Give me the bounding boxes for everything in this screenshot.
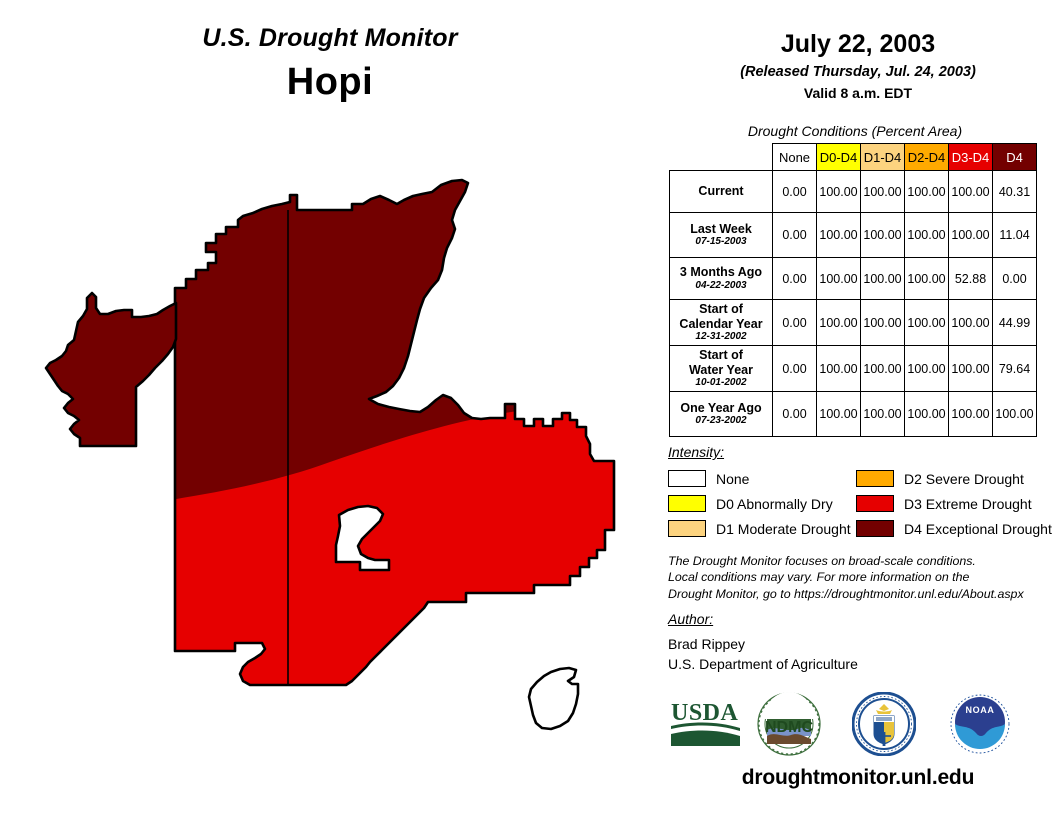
author-heading: Author: <box>668 611 713 627</box>
legend-item-d0: D0 Abnormally Dry <box>668 495 833 512</box>
row-label-name: One Year Ago <box>670 401 772 416</box>
disclaimer: The Drought Monitor focuses on broad-sca… <box>668 553 1052 602</box>
legend-item-d4: D4 Exceptional Drought <box>856 520 1052 537</box>
cell-current-none: 0.00 <box>773 171 817 213</box>
disclaimer-line-3: Drought Monitor, go to https://droughtmo… <box>668 586 1052 602</box>
cell-3mo-d1d4: 100.00 <box>861 258 905 300</box>
legend-item-d3: D3 Extreme Drought <box>856 495 1032 512</box>
table-row: Current 0.00 100.00 100.00 100.00 100.00… <box>670 171 1037 213</box>
svg-text:USDA: USDA <box>671 700 739 726</box>
row-label-name: Start ofWater Year <box>670 348 772 378</box>
row-label-date: 07-15-2003 <box>670 236 772 248</box>
table-corner-cell <box>670 144 773 171</box>
row-label-date: 12-31-2002 <box>670 331 772 343</box>
cell-3mo-d0d4: 100.00 <box>817 258 861 300</box>
svg-text:NDMC: NDMC <box>765 719 813 736</box>
cell-cal-d2d4: 100.00 <box>905 300 949 346</box>
release-date: (Released Thursday, Jul. 24, 2003) <box>660 64 1056 80</box>
cell-1yr-d1d4: 100.00 <box>861 392 905 437</box>
col-header-d4: D4 <box>993 144 1037 171</box>
ndmc-logo[interactable]: NDMC <box>757 692 821 761</box>
table-caption: Drought Conditions (Percent Area) <box>660 123 1050 139</box>
site-url[interactable]: droughtmonitor.unl.edu <box>660 766 1056 790</box>
info-panel: July 22, 2003 (Released Thursday, Jul. 2… <box>660 0 1056 816</box>
legend-swatch-d0-icon <box>668 495 706 512</box>
col-header-d1-d4: D1-D4 <box>861 144 905 171</box>
legend-heading: Intensity: <box>668 444 724 460</box>
row-label-date: 04-22-2003 <box>670 280 772 292</box>
usdc-seal-logo[interactable] <box>852 692 916 761</box>
row-label-start-of-calendar-year: Start ofCalendar Year 12-31-2002 <box>670 300 773 346</box>
map-svg[interactable] <box>0 130 660 750</box>
legend-label-d3: D3 Extreme Drought <box>904 496 1032 512</box>
author-block: Brad Rippey U.S. Department of Agricultu… <box>668 634 858 675</box>
row-label-start-of-water-year: Start ofWater Year 10-01-2002 <box>670 346 773 392</box>
legend-item-none: None <box>668 470 749 487</box>
row-label-last-week: Last Week 07-15-2003 <box>670 213 773 258</box>
cell-current-d0d4: 100.00 <box>817 171 861 213</box>
col-header-d3-d4: D3-D4 <box>949 144 993 171</box>
noaa-logo[interactable]: NOAA <box>948 692 1012 761</box>
legend-label-d2: D2 Severe Drought <box>904 471 1024 487</box>
cell-wat-d3d4: 100.00 <box>949 346 993 392</box>
cell-wat-d4: 79.64 <box>993 346 1037 392</box>
cell-1yr-d0d4: 100.00 <box>817 392 861 437</box>
col-header-d0-d4: D0-D4 <box>817 144 861 171</box>
cell-current-d4: 40.31 <box>993 171 1037 213</box>
legend-label-d1: D1 Moderate Drought <box>716 521 851 537</box>
usda-logo[interactable]: USDA <box>670 698 742 755</box>
cell-wat-d2d4: 100.00 <box>905 346 949 392</box>
table-row: Start ofCalendar Year 12-31-2002 0.00 10… <box>670 300 1037 346</box>
cell-1yr-d2d4: 100.00 <box>905 392 949 437</box>
cell-cal-d4: 44.99 <box>993 300 1037 346</box>
legend-swatch-d4-icon <box>856 520 894 537</box>
drought-conditions-table: None D0-D4 D1-D4 D2-D4 D3-D4 D4 Current … <box>669 143 1037 437</box>
drought-map[interactable] <box>0 130 660 750</box>
cell-1yr-d4: 100.00 <box>993 392 1037 437</box>
table-row: Last Week 07-15-2003 0.00 100.00 100.00 … <box>670 213 1037 258</box>
svg-text:NOAA: NOAA <box>966 705 995 715</box>
legend-swatch-d1-icon <box>668 520 706 537</box>
cell-cal-d1d4: 100.00 <box>861 300 905 346</box>
cell-lastweek-d2d4: 100.00 <box>905 213 949 258</box>
cell-lastweek-d4: 11.04 <box>993 213 1037 258</box>
page-title: Hopi <box>0 61 660 104</box>
cell-current-d3d4: 100.00 <box>949 171 993 213</box>
row-label-name: Start ofCalendar Year <box>670 302 772 332</box>
map-title-block: U.S. Drought Monitor Hopi <box>0 24 660 104</box>
date-block: July 22, 2003 (Released Thursday, Jul. 2… <box>660 30 1056 101</box>
map-enclave-lower-right <box>529 668 578 729</box>
author-affiliation: U.S. Department of Agriculture <box>668 654 858 674</box>
valid-date: July 22, 2003 <box>660 30 1056 59</box>
row-label-one-year-ago: One Year Ago 07-23-2002 <box>670 392 773 437</box>
row-label-3-months-ago: 3 Months Ago 04-22-2003 <box>670 258 773 300</box>
legend-label-d4: D4 Exceptional Drought <box>904 521 1052 537</box>
cell-lastweek-none: 0.00 <box>773 213 817 258</box>
cell-cal-none: 0.00 <box>773 300 817 346</box>
row-label-name: Current <box>670 184 772 199</box>
cell-1yr-d3d4: 100.00 <box>949 392 993 437</box>
cell-lastweek-d3d4: 100.00 <box>949 213 993 258</box>
legend-swatch-d3-icon <box>856 495 894 512</box>
table-row: 3 Months Ago 04-22-2003 0.00 100.00 100.… <box>670 258 1037 300</box>
cell-current-d1d4: 100.00 <box>861 171 905 213</box>
row-label-date: 07-23-2002 <box>670 415 772 427</box>
cell-3mo-none: 0.00 <box>773 258 817 300</box>
program-title: U.S. Drought Monitor <box>0 24 660 53</box>
valid-time: Valid 8 a.m. EDT <box>660 85 1056 101</box>
row-label-name: Last Week <box>670 222 772 237</box>
cell-current-d2d4: 100.00 <box>905 171 949 213</box>
cell-1yr-none: 0.00 <box>773 392 817 437</box>
legend-item-d1: D1 Moderate Drought <box>668 520 851 537</box>
cell-cal-d3d4: 100.00 <box>949 300 993 346</box>
cell-lastweek-d1d4: 100.00 <box>861 213 905 258</box>
cell-lastweek-d0d4: 100.00 <box>817 213 861 258</box>
cell-wat-none: 0.00 <box>773 346 817 392</box>
row-label-name: 3 Months Ago <box>670 265 772 280</box>
logo-row: USDA NDMC <box>660 692 1056 762</box>
table-row: One Year Ago 07-23-2002 0.00 100.00 100.… <box>670 392 1037 437</box>
cell-3mo-d4: 0.00 <box>993 258 1037 300</box>
col-header-none: None <box>773 144 817 171</box>
row-label-current: Current <box>670 171 773 213</box>
legend-label-d0: D0 Abnormally Dry <box>716 496 833 512</box>
cell-cal-d0d4: 100.00 <box>817 300 861 346</box>
col-header-d2-d4: D2-D4 <box>905 144 949 171</box>
cell-wat-d0d4: 100.00 <box>817 346 861 392</box>
table-header-row: None D0-D4 D1-D4 D2-D4 D3-D4 D4 <box>670 144 1037 171</box>
cell-3mo-d2d4: 100.00 <box>905 258 949 300</box>
legend-swatch-none-icon <box>668 470 706 487</box>
disclaimer-line-1: The Drought Monitor focuses on broad-sca… <box>668 553 1052 569</box>
cell-3mo-d3d4: 52.88 <box>949 258 993 300</box>
author-name: Brad Rippey <box>668 634 858 654</box>
row-label-date: 10-01-2002 <box>670 377 772 389</box>
disclaimer-line-2: Local conditions may vary. For more info… <box>668 569 1052 585</box>
legend-item-d2: D2 Severe Drought <box>856 470 1024 487</box>
legend-swatch-d2-icon <box>856 470 894 487</box>
table-row: Start ofWater Year 10-01-2002 0.00 100.0… <box>670 346 1037 392</box>
cell-wat-d1d4: 100.00 <box>861 346 905 392</box>
legend-label-none: None <box>716 471 749 487</box>
